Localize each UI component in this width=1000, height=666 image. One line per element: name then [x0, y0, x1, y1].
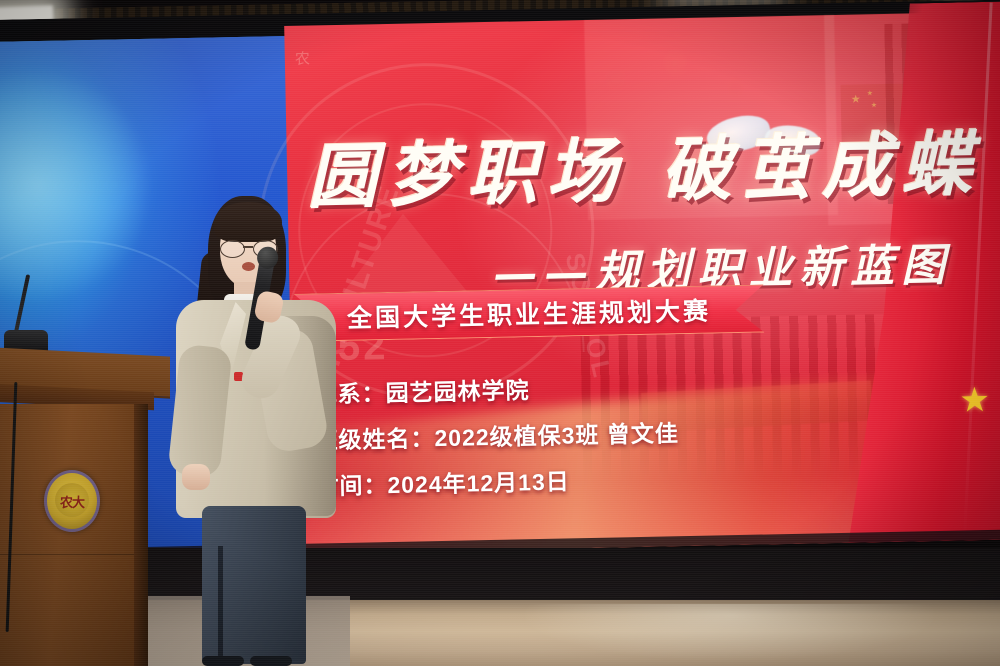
university-emblem: 农大	[44, 470, 100, 532]
presenter-left-hand	[182, 464, 210, 490]
podium: 农大	[0, 352, 170, 666]
presentation-info-block: 院系：园艺园林学院 班级姓名：2022级植保3班 曾文佳 时间：2024年12月…	[313, 368, 680, 513]
eyeglass-lens	[220, 240, 245, 258]
screen-title-main: 圆梦职场 破茧成蝶	[306, 107, 1000, 222]
floor-light-reflection	[520, 604, 940, 662]
presenter-shoe	[202, 656, 244, 666]
info-date: 时间：2024年12月13日	[315, 460, 680, 501]
presenter-hair-fringe	[214, 202, 282, 242]
eyeglass-bridge	[243, 246, 253, 248]
info-class-name: 班级姓名：2022级植保3班 曾文佳	[314, 414, 679, 455]
info-department: 院系：园艺园林学院	[313, 368, 678, 409]
stage-photograph: ★ ★ ★ 952 AGRICULTURE SCHOOL 农	[0, 0, 1000, 666]
podium-side-edge	[134, 404, 148, 666]
podium-seam	[0, 554, 144, 555]
competition-ribbon-label: 全国大学生职业生涯规划大赛	[294, 285, 765, 340]
jeans-leg-seam	[218, 546, 223, 664]
emblem-characters: 农大	[47, 473, 97, 529]
presenter	[168, 196, 358, 666]
competition-ribbon: 全国大学生职业生涯规划大赛	[294, 284, 765, 341]
presenter-shoe	[250, 656, 292, 666]
flag-star-icon: ★	[959, 380, 990, 421]
presenter-mouth	[242, 262, 255, 271]
podium-body	[0, 404, 144, 666]
